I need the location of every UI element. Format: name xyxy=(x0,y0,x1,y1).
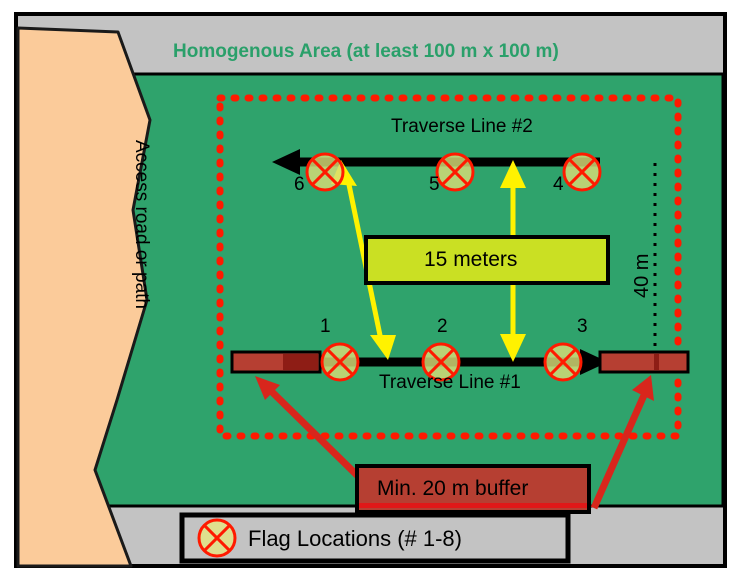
circle-x-flag-icon xyxy=(199,520,235,556)
flag-marker-5 xyxy=(437,154,473,190)
page-title: Homogenous Area (at least 100 m x 100 m) xyxy=(173,41,559,63)
right-buffer-bar xyxy=(600,352,688,372)
left-buffer-bar-endcap xyxy=(283,354,318,370)
traverse-line-1-label: Traverse Line #1 xyxy=(379,372,521,394)
diagram-root: Homogenous Area (at least 100 m x 100 m)… xyxy=(0,0,741,580)
flag-label-4: 4 xyxy=(553,174,564,196)
flag-label-2: 2 xyxy=(437,316,448,338)
diagram-stage: Homogenous Area (at least 100 m x 100 m)… xyxy=(0,0,741,580)
buffer-callout-label: Min. 20 m buffer xyxy=(377,477,528,501)
flag-marker-3 xyxy=(545,344,581,380)
right-buffer-bar-body xyxy=(600,352,688,372)
diagram-canvas xyxy=(0,0,741,580)
depth-measure-label: 40 m xyxy=(631,254,654,298)
flag-label-6: 6 xyxy=(294,174,305,196)
flag-label-1: 1 xyxy=(320,316,331,338)
flag-marker-4 xyxy=(564,154,600,190)
flag-label-5: 5 xyxy=(429,174,440,196)
flag-marker-1 xyxy=(322,344,358,380)
flag-label-3: 3 xyxy=(577,316,588,338)
left-buffer-bar xyxy=(232,352,320,372)
buffer-callout-underline xyxy=(359,503,587,508)
access-road-label: Access road or path xyxy=(130,140,152,309)
flag-marker-6 xyxy=(307,154,343,190)
legend-label: Flag Locations (# 1-8) xyxy=(248,526,462,552)
right-buffer-bar-endcap xyxy=(654,354,659,370)
traverse-line-2-label: Traverse Line #2 xyxy=(391,116,533,138)
spacing-callout-label: 15 meters xyxy=(424,248,517,272)
